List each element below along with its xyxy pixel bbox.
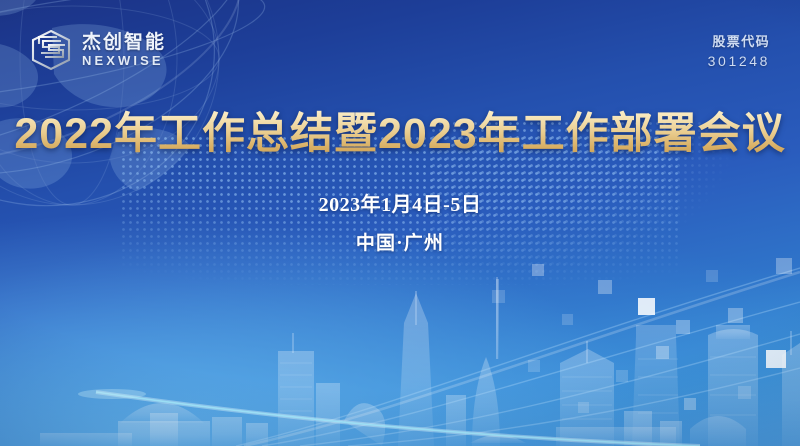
event-location: 中国·广州 [0,228,800,255]
poster-canvas: 杰创智能 NEXWISE 股票代码 301248 2022年工作总结暨2023年… [0,0,800,446]
event-date: 2023年1月4日-5日 [0,188,800,217]
brand-name-cn: 杰创智能 [82,32,166,53]
guangzhou-city-skyline-icon [0,271,800,446]
page-title: 2022年工作总结暨2023年工作部署会议 [0,99,800,161]
stock-code-value: 301248 [708,52,770,71]
brand-logo-text: 杰创智能 NEXWISE [82,32,166,69]
hexagon-maze-logo-icon [29,29,73,71]
stock-code-block: 股票代码 301248 [708,33,770,71]
brand-name-en: NEXWISE [82,53,166,69]
brand-logo[interactable]: 杰创智能 NEXWISE [29,29,166,71]
floating-squares-icon [470,246,800,446]
stock-code-label: 股票代码 [708,33,770,52]
